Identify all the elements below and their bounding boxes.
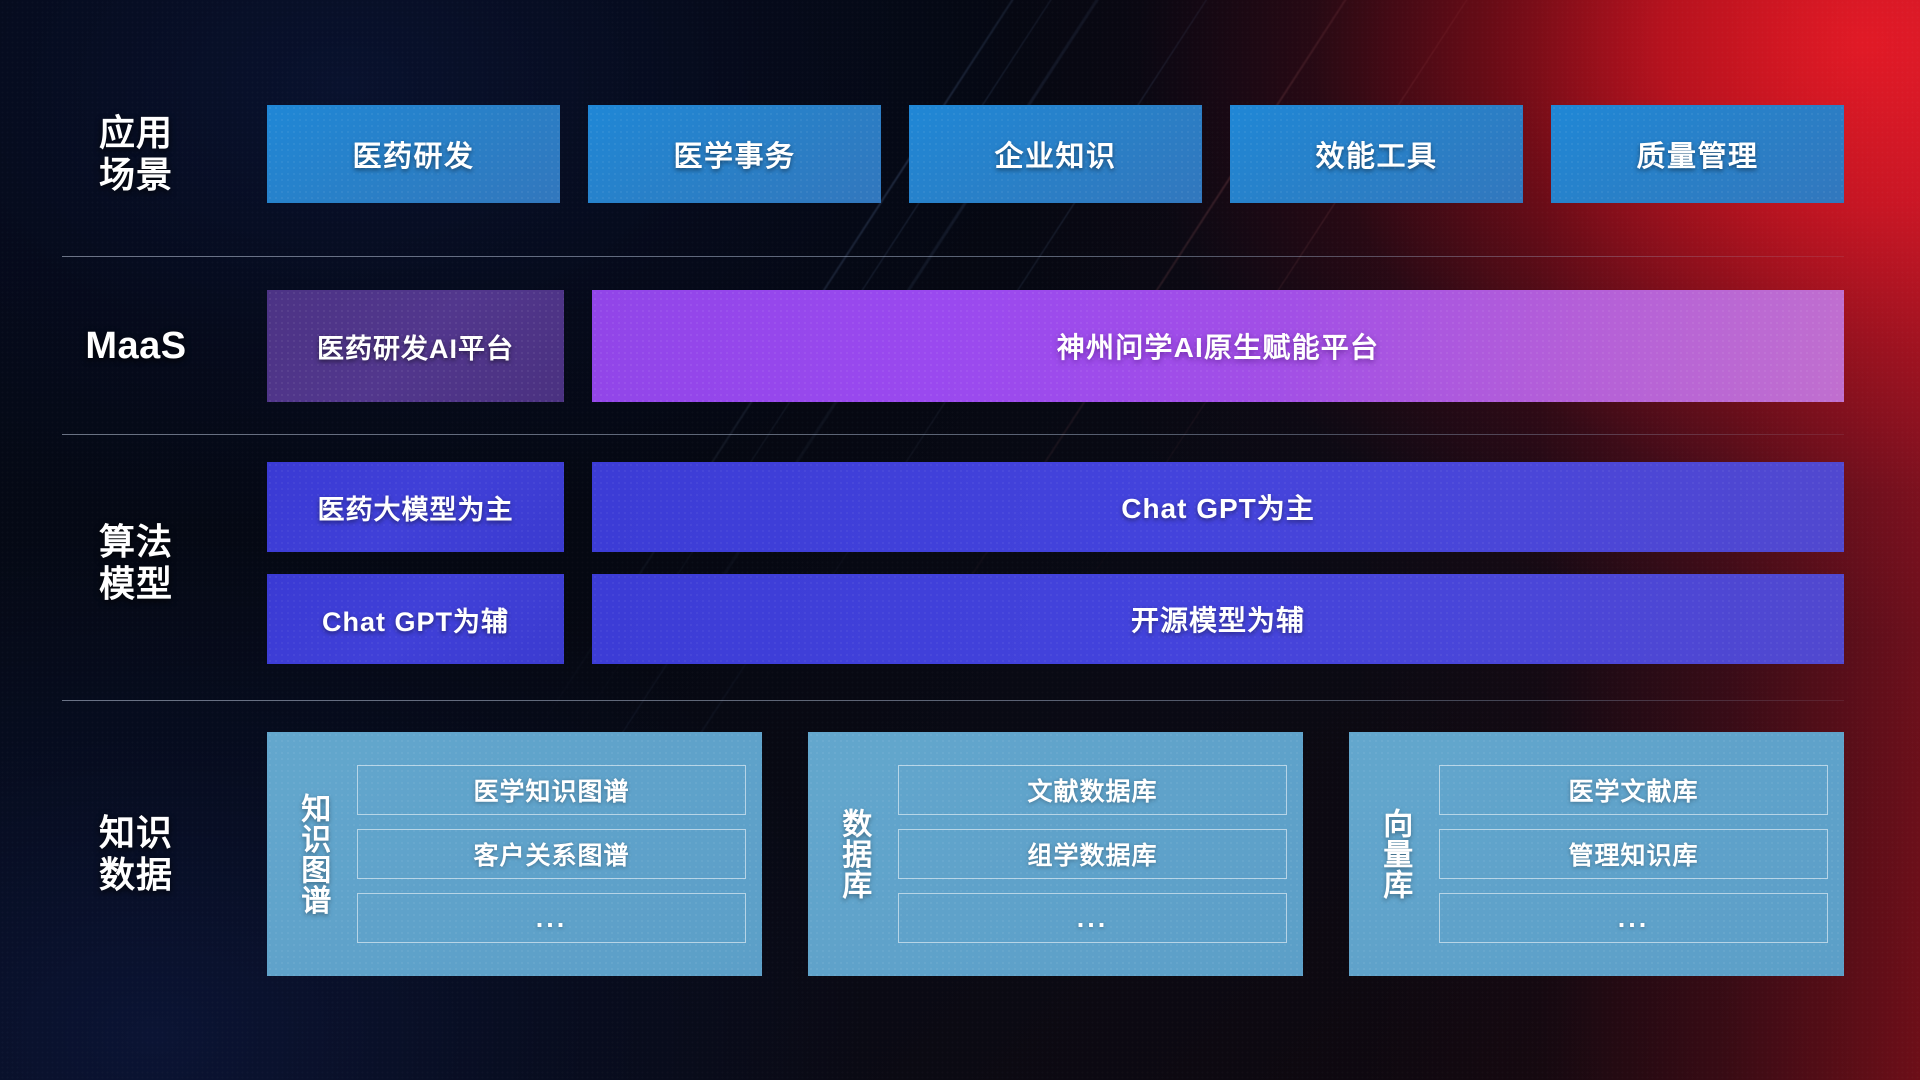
knowledge-item-label: 管理知识库 [1568,836,1698,872]
algorithm-line-secondary: Chat GPT为辅 开源模型为辅 [267,574,1844,664]
knowledge-item-label: ... [1618,903,1650,934]
app-box-medical-affairs[interactable]: 医学事务 [588,105,881,203]
knowledge-group-knowledge-graph: 知识图谱 医学知识图谱 客户关系图谱 ... [267,732,762,976]
knowledge-item-label: 客户关系图谱 [473,836,629,872]
algo-box-label: Chat GPT为主 [1121,487,1315,527]
divider-application-maas [62,256,1844,257]
maas-box-list: 医药研发AI平台 神州问学AI原生赋能平台 [267,290,1844,402]
knowledge-item-management-knowledge-store[interactable]: 管理知识库 [1439,829,1828,879]
knowledge-group-database: 数据库 文献数据库 组学数据库 ... [808,732,1303,976]
knowledge-item-list: 文献数据库 组学数据库 ... [898,748,1287,960]
row-label-maas: MaaS [62,324,210,369]
app-box-label: 效能工具 [1315,133,1437,175]
row-application-scenarios: 应用 场景 医药研发 医学事务 企业知识 效能工具 [62,105,1844,203]
knowledge-item-literature-database[interactable]: 文献数据库 [898,765,1287,815]
app-box-efficiency-tools[interactable]: 效能工具 [1230,105,1523,203]
knowledge-group-list: 知识图谱 医学知识图谱 客户关系图谱 ... [267,732,1844,976]
maas-box-label: 医药研发AI平台 [317,327,514,366]
algo-box-pharma-llm-primary[interactable]: 医药大模型为主 [267,462,564,552]
knowledge-item-medical-knowledge-graph[interactable]: 医学知识图谱 [357,765,746,815]
architecture-diagram: 应用 场景 医药研发 医学事务 企业知识 效能工具 [0,0,1920,1080]
app-box-drug-rnd[interactable]: 医药研发 [267,105,560,203]
maas-box-drug-rnd-ai-platform[interactable]: 医药研发AI平台 [267,290,564,402]
app-box-enterprise-knowledge[interactable]: 企业知识 [909,105,1202,203]
algorithm-line-primary: 医药大模型为主 Chat GPT为主 [267,462,1844,552]
app-box-label: 质量管理 [1636,133,1758,175]
app-box-label: 医学事务 [673,133,795,175]
knowledge-item-list: 医学文献库 管理知识库 ... [1439,748,1828,960]
row-label-knowledge: 知识 数据 [62,812,210,897]
application-box-list: 医药研发 医学事务 企业知识 效能工具 质量管理 [267,105,1844,203]
knowledge-item-customer-relation-graph[interactable]: 客户关系图谱 [357,829,746,879]
divider-algorithm-knowledge [62,700,1844,701]
knowledge-item-label: 文献数据库 [1027,772,1157,808]
knowledge-group-title: 知识图谱 [279,748,345,960]
row-maas: MaaS 医药研发AI平台 神州问学AI原生赋能平台 [62,290,1844,402]
maas-box-shenzhou-wenxue-platform[interactable]: 神州问学AI原生赋能平台 [592,290,1844,402]
knowledge-item-more[interactable]: ... [898,893,1287,943]
algo-box-opensource-secondary[interactable]: 开源模型为辅 [592,574,1844,664]
row-algorithm-models: 算法 模型 医药大模型为主 Chat GPT为主 Chat GPT为辅 [62,462,1844,664]
algo-box-chatgpt-secondary[interactable]: Chat GPT为辅 [267,574,564,664]
knowledge-item-label: 医学文献库 [1568,772,1698,808]
row-label-application: 应用 场景 [62,112,210,197]
app-box-label: 医药研发 [352,133,474,175]
algo-box-label: 医药大模型为主 [318,488,514,527]
knowledge-item-list: 医学知识图谱 客户关系图谱 ... [357,748,746,960]
knowledge-item-label: 组学数据库 [1027,836,1157,872]
app-box-quality-management[interactable]: 质量管理 [1551,105,1844,203]
maas-box-label: 神州问学AI原生赋能平台 [1057,326,1379,366]
knowledge-item-medical-literature-store[interactable]: 医学文献库 [1439,765,1828,815]
algorithm-box-stack: 医药大模型为主 Chat GPT为主 Chat GPT为辅 开源模型为辅 [267,462,1844,664]
knowledge-item-label: ... [1077,903,1109,934]
knowledge-group-title: 数据库 [820,748,886,960]
knowledge-item-more[interactable]: ... [1439,893,1828,943]
knowledge-item-label: ... [536,903,568,934]
knowledge-item-label: 医学知识图谱 [473,772,629,808]
algo-box-label: 开源模型为辅 [1131,599,1305,639]
row-label-algorithm: 算法 模型 [62,521,210,606]
knowledge-item-more[interactable]: ... [357,893,746,943]
knowledge-group-title: 向量库 [1361,748,1427,960]
row-knowledge-data: 知识 数据 知识图谱 医学知识图谱 客户关系图谱 [62,732,1844,976]
algo-box-chatgpt-primary[interactable]: Chat GPT为主 [592,462,1844,552]
knowledge-item-omics-database[interactable]: 组学数据库 [898,829,1287,879]
knowledge-group-vector-store: 向量库 医学文献库 管理知识库 ... [1349,732,1844,976]
app-box-label: 企业知识 [994,133,1116,175]
algo-box-label: Chat GPT为辅 [322,600,509,639]
divider-maas-algorithm [62,434,1844,435]
